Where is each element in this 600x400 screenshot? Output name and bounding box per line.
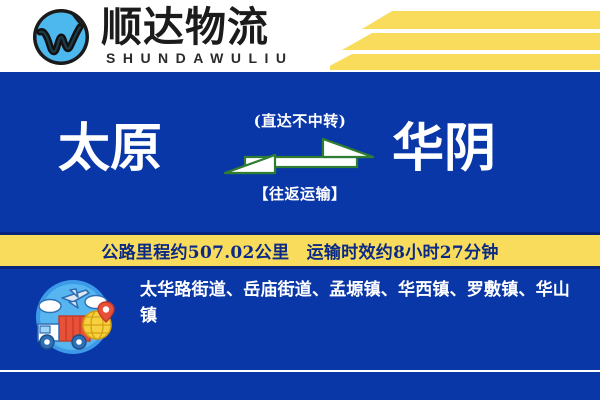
origin-city: 太原 [58,118,162,180]
footer-strip [0,372,600,400]
logistics-route-banner: 顺达物流 SHUNDAWULIU 太原 华阴 (直达不中转) 【往返运输】 [0,0,600,400]
company-logo-icon [30,6,92,68]
service-areas-section: 太华路街道、岳庙街道、孟塬镇、华西镇、罗敷镇、华山镇 [0,269,600,369]
route-note-roundtrip: 【往返运输】 [205,183,395,204]
decorative-stripes-icon [330,0,600,72]
stats-text: 公路里程约507.02公里 运输时效约8小时27分钟 [101,238,498,263]
double-headed-arrow-icon [205,137,395,181]
service-areas-list: 太华路街道、岳庙街道、孟塬镇、华西镇、罗敷镇、华山镇 [140,277,585,329]
stats-band: 公路里程约507.02公里 运输时效约8小时27分钟 [0,235,600,266]
route-indicator: (直达不中转) 【往返运输】 [205,110,395,204]
logistics-illustration-icon [26,278,120,356]
banner-header: 顺达物流 SHUNDAWULIU [0,0,600,72]
company-name-en: SHUNDAWULIU [106,50,294,66]
destination-city: 华阴 [392,118,496,180]
route-note-direct: (直达不中转) [205,110,395,131]
company-name-cn: 顺达物流 [101,4,269,50]
